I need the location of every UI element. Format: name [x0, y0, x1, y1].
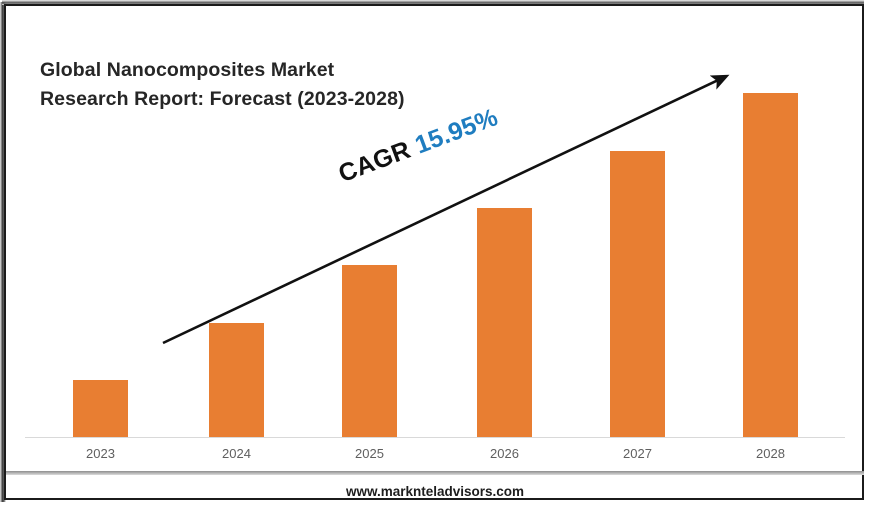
x-tick-label-2025: 2025 [310, 446, 430, 461]
plot-area: 202320242025202620272028 CAGR 15.95% [0, 0, 870, 472]
x-tick-label-2024: 2024 [177, 446, 297, 461]
bar-2024 [209, 323, 264, 437]
x-tick-label-2026: 2026 [445, 446, 565, 461]
trend-arrow-icon [0, 0, 870, 472]
footer-source: www.marknteladvisors.com [6, 477, 864, 499]
footer-divider [6, 471, 864, 475]
x-tick-label-2023: 2023 [41, 446, 161, 461]
bar-2027 [610, 151, 665, 437]
bar-2025 [342, 265, 397, 437]
x-tick-label-2028: 2028 [711, 446, 831, 461]
cagr-value: 15.95% [411, 103, 501, 159]
cagr-annotation: CAGR 15.95% [335, 103, 502, 189]
x-tick-label-2027: 2027 [578, 446, 698, 461]
x-axis-line [25, 437, 845, 438]
bar-2026 [477, 208, 532, 437]
chart-figure: Global Nanocomposites Market Research Re… [0, 0, 870, 506]
bar-2023 [73, 380, 128, 437]
bar-2028 [743, 93, 798, 437]
cagr-label: CAGR [335, 136, 415, 188]
